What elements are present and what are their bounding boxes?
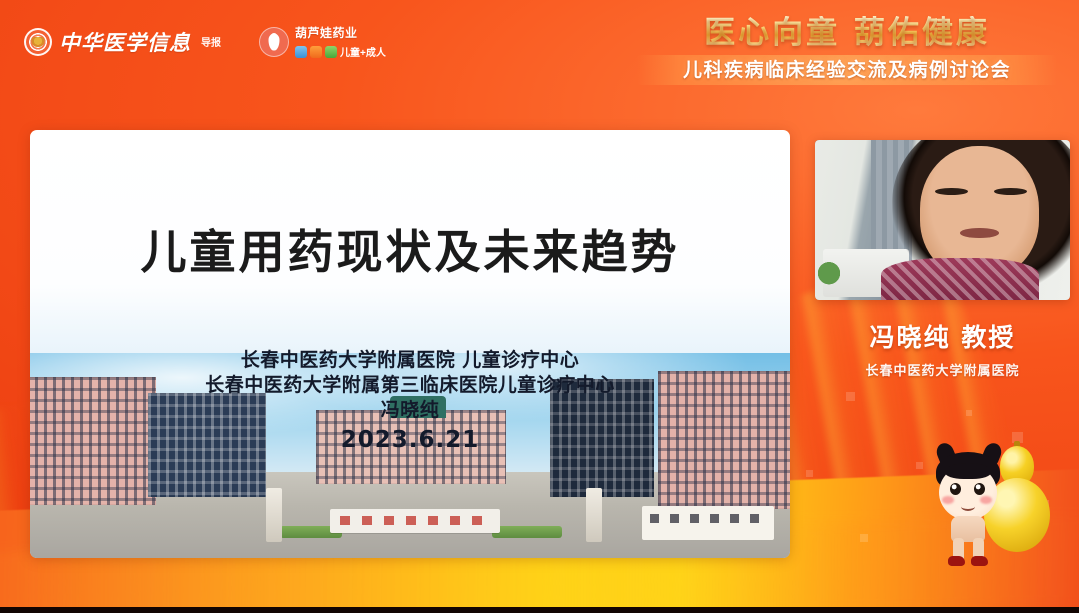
slide-subtitle-line: 长春中医药大学附属医院 儿童诊疗中心 xyxy=(30,348,790,373)
presenter-mouth xyxy=(960,228,998,238)
campus-name-signboard xyxy=(642,506,774,540)
mascot-mouth xyxy=(961,502,975,511)
chinese-medical-association-logo: 中华医学信息 导报 xyxy=(24,27,221,57)
presenter-video-feed[interactable] xyxy=(815,140,1070,300)
hulu-text-group: 葫芦娃药业 儿童+成人 xyxy=(295,24,386,59)
bottom-letterbox xyxy=(0,607,1079,613)
cma-wordmark: 中华医学信息 xyxy=(59,27,191,57)
gourd-badge-icon xyxy=(259,27,289,57)
campus-lawn xyxy=(492,526,562,538)
mascot-cheek xyxy=(980,496,992,504)
event-title: 医心向童 葫佑健康 xyxy=(637,16,1057,50)
broadcast-screen: 中华医学信息 导报 葫芦娃药业 儿童+成人 医心向童 葫佑健康 儿科疾病临床经验… xyxy=(0,0,1079,613)
header-logos: 中华医学信息 导报 葫芦娃药业 儿童+成人 xyxy=(24,24,386,59)
presentation-slide[interactable]: 儿童用药现状及未来趋势 长春中医药大学附属医院 儿童诊疗中心 长春中医药大学附属… xyxy=(30,130,790,558)
hulu-wordmark: 葫芦娃药业 xyxy=(295,24,386,41)
mascot-boy xyxy=(928,452,1012,564)
decorative-square xyxy=(806,470,813,477)
campus-gate-pillar xyxy=(266,488,282,542)
slide-subtitle-line: 长春中医药大学附属第三临床医院儿童诊疗中心 xyxy=(30,373,790,398)
mascot-bangs xyxy=(945,463,991,479)
hulu-tagline-row: 儿童+成人 xyxy=(295,44,386,59)
event-subtitle: 儿科疾病临床经验交流及病例讨论会 xyxy=(637,55,1057,85)
mascot-eye xyxy=(974,483,985,495)
mascot-shoe xyxy=(971,556,988,566)
speaker-name: 冯晓纯 教授 xyxy=(815,318,1070,354)
cma-wordmark-suffix: 导报 xyxy=(201,34,221,49)
decorative-square xyxy=(846,392,855,401)
hulu-tagline: 儿童+成人 xyxy=(340,44,386,59)
decorative-square xyxy=(860,534,868,542)
campus-monument-sign xyxy=(330,509,500,533)
calabash-boy-mascot xyxy=(928,438,1068,568)
orange-app-icon xyxy=(310,46,322,58)
slide-title: 儿童用药现状及未来趋势 xyxy=(30,216,790,282)
campus-gate-pillar xyxy=(586,488,602,542)
slide-subtitle-group: 长春中医药大学附属医院 儿童诊疗中心 长春中医药大学附属第三临床医院儿童诊疗中心… xyxy=(30,348,790,456)
slide-date: 2023.6.21 xyxy=(30,425,790,456)
decorative-square xyxy=(966,410,972,416)
blue-app-icon xyxy=(295,46,307,58)
presenter-shirt xyxy=(881,258,1039,300)
mascot-cheek xyxy=(942,496,954,504)
green-app-icon xyxy=(325,46,337,58)
event-title-block: 医心向童 葫佑健康 儿科疾病临床经验交流及病例讨论会 xyxy=(637,16,1057,85)
video-plant xyxy=(818,262,841,291)
hulu-sponsor-logo: 葫芦娃药业 儿童+成人 xyxy=(259,24,386,59)
event-subtitle-wrap: 儿科疾病临床经验交流及病例讨论会 xyxy=(637,55,1057,85)
circular-seal-icon xyxy=(24,28,52,56)
mascot-eye xyxy=(950,483,961,495)
speaker-organization: 长春中医药大学附属医院 xyxy=(815,360,1070,379)
mascot-shoe xyxy=(948,556,965,566)
speaker-caption: 冯晓纯 教授 长春中医药大学附属医院 xyxy=(815,318,1070,379)
slide-presenter-name: 冯晓纯 xyxy=(30,398,790,423)
decorative-square xyxy=(916,462,923,469)
